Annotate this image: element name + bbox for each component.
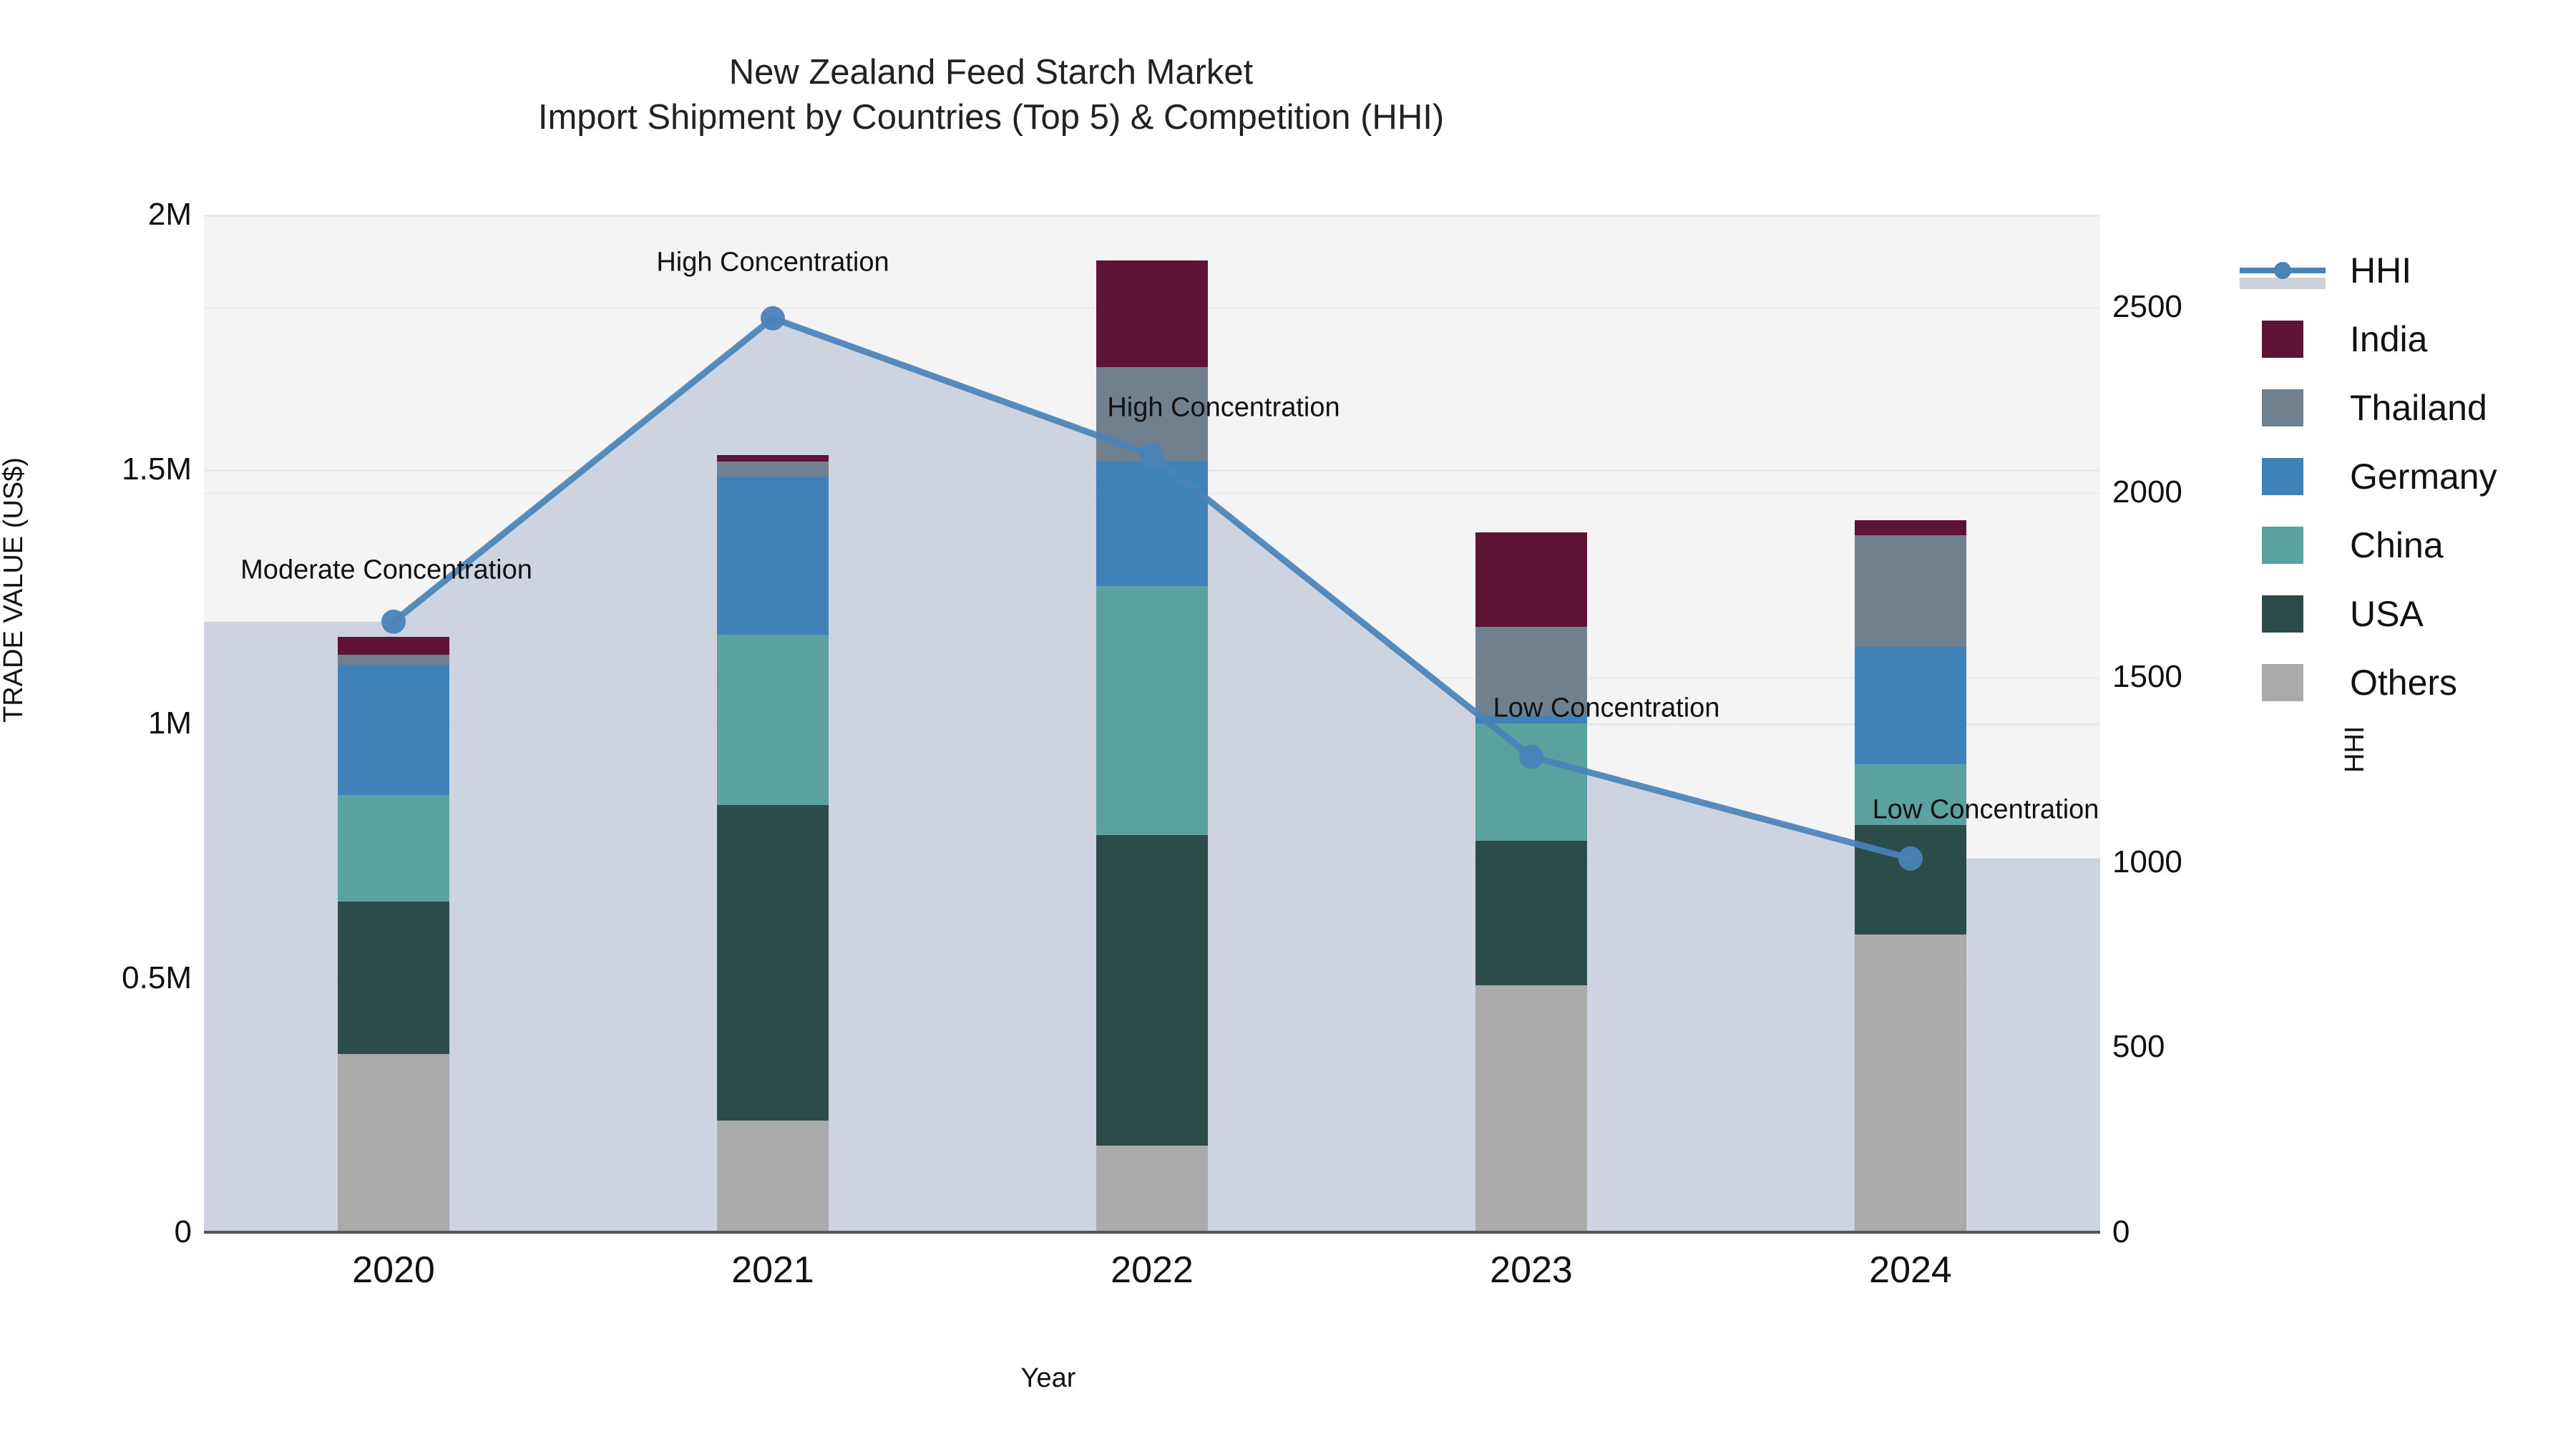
chart-title: New Zealand Feed Starch Market Import Sh… [0, 50, 1982, 140]
chart-title-line2: Import Shipment by Countries (Top 5) & C… [0, 95, 1982, 140]
bar-segment[interactable] [338, 637, 449, 655]
bar-segment[interactable] [1096, 835, 1208, 1146]
legend-swatch-icon [2262, 321, 2303, 358]
bar-segment[interactable] [1855, 535, 1966, 647]
legend-label: HHI [2350, 250, 2411, 291]
bar-segment[interactable] [1855, 647, 1966, 764]
legend-swatch-icon [2262, 595, 2303, 633]
legend-item-china[interactable]: China [2240, 511, 2576, 580]
bar-segment[interactable] [717, 635, 829, 805]
x-axis-tick-label: 2023 [1424, 1249, 1639, 1292]
concentration-annotation: High Concentration [1107, 393, 1340, 424]
bar-segment[interactable] [338, 655, 449, 665]
y-axis-left-tick-label: 0.5M [0, 960, 192, 996]
bar-segment[interactable] [717, 455, 829, 462]
y-axis-left-tick-label: 0 [0, 1214, 192, 1250]
bar-segment[interactable] [338, 902, 449, 1054]
legend-item-hhi[interactable]: HHI [2240, 236, 2576, 305]
bar-segment[interactable] [338, 1054, 449, 1232]
legend-swatch-icon [2262, 389, 2303, 426]
bar-segment[interactable] [1855, 935, 1966, 1232]
bar-stack[interactable] [338, 215, 449, 1232]
y-axis-right-tick-label: 500 [2112, 1029, 2277, 1065]
bar-stack[interactable] [1855, 215, 1966, 1232]
legend: HHIIndiaThailandGermanyChinaUSAOthers [2240, 236, 2576, 717]
legend-label: Others [2350, 662, 2457, 703]
legend-swatch-icon [2262, 664, 2303, 701]
y-axis-right-title: HHI [2340, 726, 2371, 773]
legend-label: India [2350, 318, 2427, 360]
y-axis-left-title: TRADE VALUE (US$) [0, 457, 29, 723]
legend-label: Germany [2350, 456, 2497, 497]
bar-segment[interactable] [338, 665, 449, 794]
y-axis-left-tick-label: 2M [0, 197, 192, 233]
legend-item-thailand[interactable]: Thailand [2240, 374, 2576, 442]
bar-stack[interactable] [717, 215, 829, 1232]
legend-swatch-icon [2262, 458, 2303, 495]
legend-item-india[interactable]: India [2240, 305, 2576, 374]
x-axis-tick-label: 2024 [1803, 1249, 2018, 1292]
bar-segment[interactable] [1096, 462, 1208, 586]
bar-segment[interactable] [717, 805, 829, 1121]
bar-segment[interactable] [1096, 586, 1208, 835]
concentration-annotation: High Concentration [656, 247, 889, 278]
bar-segment[interactable] [1475, 723, 1587, 841]
bar-segment[interactable] [338, 795, 449, 902]
concentration-annotation: Low Concentration [1873, 794, 2099, 825]
legend-label: Thailand [2350, 387, 2487, 429]
y-axis-right-tick-label: 0 [2112, 1214, 2277, 1250]
legend-label: China [2350, 525, 2444, 566]
x-axis-tick-label: 2022 [1045, 1249, 1259, 1292]
bar-segment[interactable] [1855, 825, 1966, 935]
bar-segment[interactable] [717, 477, 829, 634]
legend-item-usa[interactable]: USA [2240, 580, 2576, 648]
x-axis-title: Year [0, 1363, 2097, 1394]
legend-line-marker-icon [2240, 252, 2326, 289]
chart-title-line1: New Zealand Feed Starch Market [0, 50, 1982, 95]
y-axis-right-tick-label: 1000 [2112, 844, 2277, 880]
legend-item-germany[interactable]: Germany [2240, 442, 2576, 511]
bar-segment[interactable] [717, 462, 829, 477]
bar-segment[interactable] [1096, 1146, 1208, 1232]
concentration-annotation: Low Concentration [1493, 693, 1720, 723]
legend-item-others[interactable]: Others [2240, 648, 2576, 717]
bar-segment[interactable] [1475, 841, 1587, 986]
bar-segment[interactable] [1855, 520, 1966, 535]
legend-swatch-icon [2262, 527, 2303, 564]
x-axis-tick-label: 2020 [286, 1249, 501, 1292]
bar-segment[interactable] [717, 1121, 829, 1232]
x-axis-tick-label: 2021 [665, 1249, 880, 1292]
bar-segment[interactable] [1475, 532, 1587, 627]
legend-label: USA [2350, 593, 2424, 635]
bar-stack[interactable] [1096, 215, 1208, 1232]
bar-segment[interactable] [1096, 260, 1208, 367]
bar-segment[interactable] [1475, 985, 1587, 1232]
x-axis-line [204, 1231, 2100, 1234]
concentration-annotation: Moderate Concentration [240, 555, 532, 585]
bars-layer [204, 215, 2100, 1232]
